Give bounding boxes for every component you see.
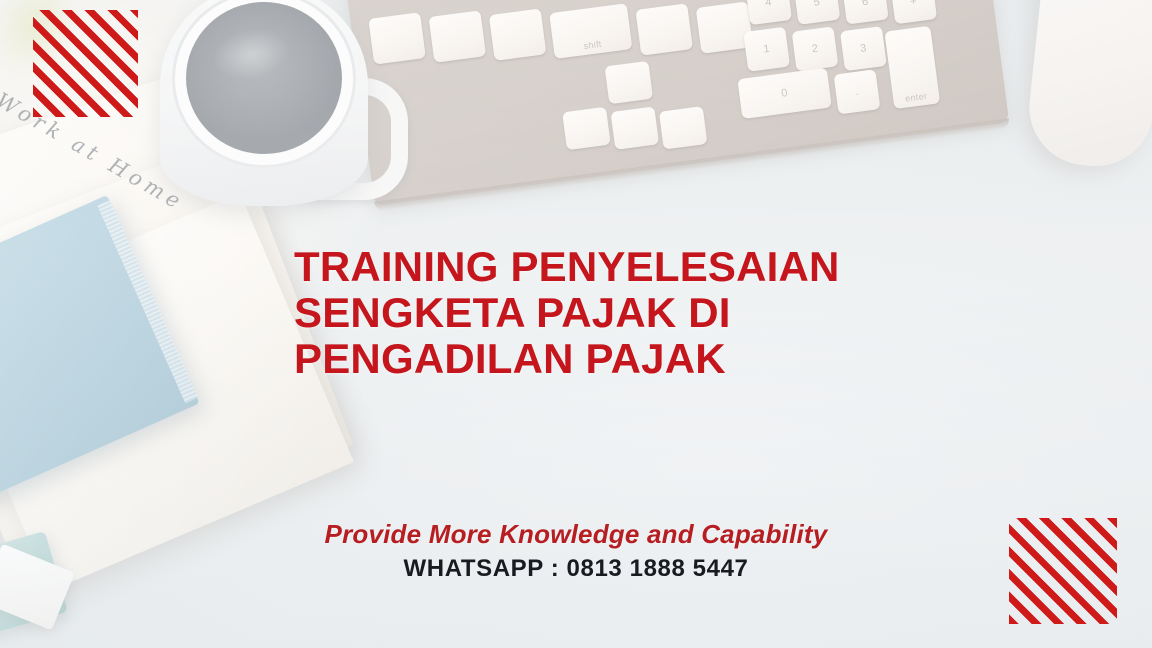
- keyboard-key-shift: shift: [549, 3, 632, 59]
- keyboard-key-period: .: [834, 69, 881, 114]
- keyboard-key-arrow-left: [562, 107, 611, 150]
- whatsapp-contact: WHATSAPP : 0813 1888 5447: [0, 555, 1152, 583]
- diagonal-stripes-top-left: [33, 10, 138, 117]
- promo-banner: shift 7 8 9 - 4 5 6 + 1 2 3 0 . enter: [0, 0, 1152, 648]
- keyboard-key-4: 4: [745, 0, 792, 25]
- keyboard-key-plus: +: [890, 0, 937, 24]
- keyboard-key-1: 1: [743, 27, 790, 72]
- keyboard-key-0: 0: [737, 68, 831, 119]
- page-title-line-1: TRAINING PENYELESAIAN: [294, 244, 840, 290]
- page-title-line-2: SENGKETA PAJAK DI: [294, 290, 840, 336]
- tagline: Provide More Knowledge and Capability: [0, 519, 1152, 550]
- keyboard-key-5: 5: [794, 0, 841, 25]
- keyboard-key: [489, 8, 547, 60]
- keyboard-key-2: 2: [792, 26, 839, 71]
- page-title: TRAINING PENYELESAIAN SENGKETA PAJAK DI …: [294, 244, 840, 382]
- keyboard-key-6: 6: [842, 0, 889, 25]
- keyboard-key-3: 3: [840, 26, 887, 71]
- keyboard-key: [635, 3, 693, 55]
- keyboard-key-enter: enter: [884, 26, 940, 109]
- keyboard-key-arrow-up: [605, 61, 654, 104]
- keyboard-key: [368, 12, 426, 64]
- page-title-line-3: PENGADILAN PAJAK: [294, 336, 840, 382]
- keyboard-key-arrow-down: [611, 106, 660, 149]
- keyboard-key: [429, 10, 487, 62]
- keyboard-key-arrow-right: [659, 106, 708, 149]
